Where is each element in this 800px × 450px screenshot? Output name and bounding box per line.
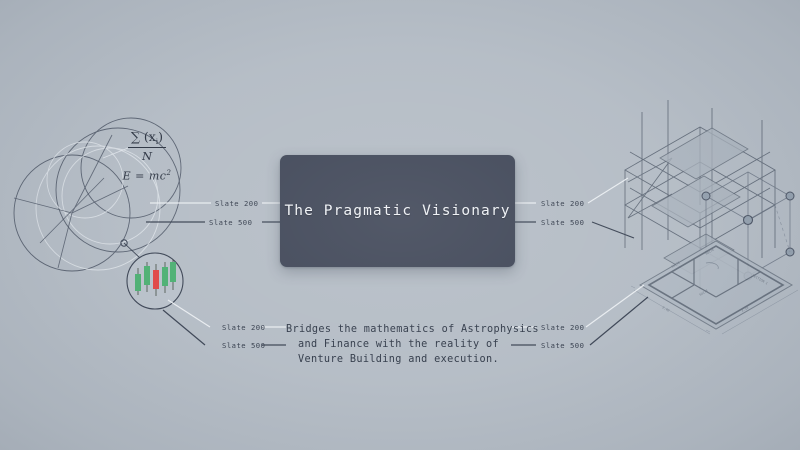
label-bottom-left-slate500: Slate 500	[222, 341, 265, 350]
caption-line-2: and Finance with the reality of	[286, 337, 511, 352]
label-bottom-left-slate200: Slate 200	[222, 323, 265, 332]
caption-line-3: Venture Building and execution.	[286, 352, 511, 367]
diagram-canvas: ∑ (xi) N E = mc2	[0, 0, 800, 450]
label-right-slate500: Slate 500	[541, 218, 584, 227]
connector-right-bottom	[511, 285, 648, 345]
page-title: The Pragmatic Visionary	[284, 203, 510, 219]
central-title-card[interactable]: The Pragmatic Visionary	[280, 155, 515, 267]
connector-bottom-right-slate500	[511, 297, 648, 345]
label-left-slate500: Slate 500	[209, 218, 252, 227]
label-bottom-right-slate200: Slate 200	[541, 323, 584, 332]
connector-right-middle	[515, 178, 634, 238]
label-bottom-right-slate500: Slate 500	[541, 341, 584, 350]
label-right-slate200: Slate 200	[541, 199, 584, 208]
connector-bottom-right-slate200	[511, 285, 644, 327]
caption-block: Bridges the mathematics of Astrophysics …	[286, 322, 511, 367]
caption-line-1: Bridges the mathematics of Astrophysics	[286, 322, 511, 337]
label-left-slate200: Slate 200	[215, 199, 258, 208]
